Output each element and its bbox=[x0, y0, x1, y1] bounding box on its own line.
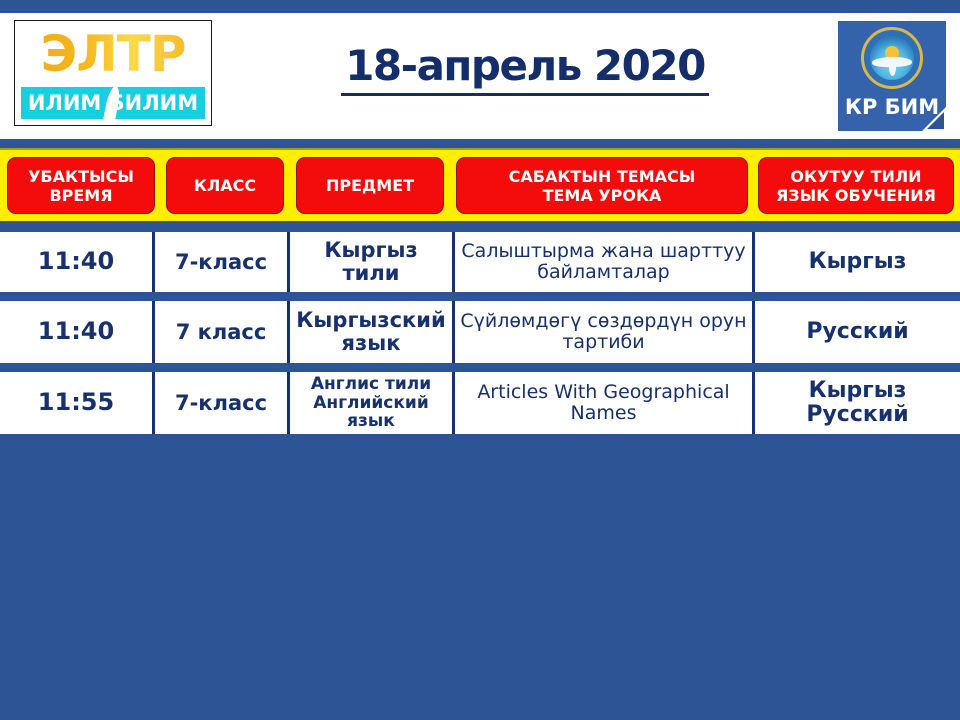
table-row: 11:55 7-класс Англис тили Английский язы… bbox=[0, 372, 960, 434]
column-header-theme: САБАКТЫН ТЕМАСЫ ТЕМА УРОКА bbox=[456, 157, 748, 214]
cell-subject: Англис тили Английский язык bbox=[290, 372, 455, 434]
cell-subject: Кыргыз тили bbox=[290, 232, 455, 292]
table-header-bar: УБАКТЫСЫ ВРЕМЯ КЛАСС ПРЕДМЕТ САБАКТЫН ТЕ… bbox=[0, 148, 960, 221]
cell-class: 7-класс bbox=[155, 232, 290, 292]
column-header-subject-label: ПРЕДМЕТ bbox=[326, 176, 414, 195]
column-header-time: УБАКТЫСЫ ВРЕМЯ bbox=[7, 157, 155, 214]
eltr-logo-wordmark: ЭЛТР bbox=[15, 25, 211, 83]
table-row: 11:40 7 класс Кыргызский язык Сүйлөмдөгү… bbox=[0, 301, 960, 363]
column-header-time-ru: ВРЕМЯ bbox=[28, 186, 134, 205]
cell-time: 11:40 bbox=[0, 232, 155, 292]
cell-language-line1: Кыргыз bbox=[809, 378, 907, 403]
table-row: 11:40 7-класс Кыргыз тили Салыштырма жан… bbox=[0, 232, 960, 292]
schedule-table: 11:40 7-класс Кыргыз тили Салыштырма жан… bbox=[0, 232, 960, 443]
cell-subject-line2: язык bbox=[342, 331, 401, 355]
kr-bim-logo: КР БИМ bbox=[838, 21, 946, 131]
cell-language: Кыргыз Русский bbox=[755, 372, 960, 434]
cell-theme: Салыштырма жана шарттуу байламталар bbox=[455, 232, 755, 292]
cell-class: 7-класс bbox=[155, 372, 290, 434]
cell-theme: Articles With Geographical Names bbox=[455, 372, 755, 434]
cell-language-line2: Русский bbox=[806, 402, 908, 427]
column-header-theme-ru: ТЕМА УРОКА bbox=[509, 186, 696, 205]
cell-subject-line2: Английский язык bbox=[313, 393, 429, 431]
cell-language: Русский bbox=[755, 301, 960, 363]
cell-time: 11:40 bbox=[0, 301, 155, 363]
column-header-class-label: КЛАСС bbox=[194, 176, 256, 195]
column-header-class: КЛАСС bbox=[166, 157, 284, 214]
cell-language-line1: Русский bbox=[806, 319, 908, 344]
page-header: ЭЛТР ИЛИМ БИЛИМ 18-апрель 2020 КР БИМ bbox=[0, 13, 960, 139]
cell-subject: Кыргызский язык bbox=[290, 301, 455, 363]
cell-language-line1: Кыргыз bbox=[809, 249, 907, 274]
column-header-theme-kg: САБАКТЫН ТЕМАСЫ bbox=[509, 167, 696, 186]
cell-theme: Сүйлөмдөгү сөздөрдүн орун тартиби bbox=[455, 301, 755, 363]
cell-language: Кыргыз bbox=[755, 232, 960, 292]
column-header-subject: ПРЕДМЕТ bbox=[296, 157, 444, 214]
cell-subject-line1: Кыргыз тили bbox=[324, 238, 417, 285]
page-title-text: 18-апрель 2020 bbox=[341, 41, 709, 96]
column-header-language-ru: ЯЗЫК ОБУЧЕНИЯ bbox=[776, 186, 936, 205]
cell-time: 11:55 bbox=[0, 372, 155, 434]
column-header-time-kg: УБАКТЫСЫ bbox=[28, 167, 134, 186]
column-header-language-kg: ОКУТУУ ТИЛИ bbox=[776, 167, 936, 186]
coat-of-arms-icon bbox=[861, 27, 923, 89]
corner-fold-inner bbox=[927, 112, 944, 129]
coat-of-arms-inner bbox=[870, 36, 914, 80]
cell-subject-line1: Кыргызский bbox=[296, 308, 445, 332]
eltr-logo: ЭЛТР ИЛИМ БИЛИМ bbox=[14, 20, 212, 126]
cell-class: 7 класс bbox=[155, 301, 290, 363]
column-header-language: ОКУТУУ ТИЛИ ЯЗЫК ОБУЧЕНИЯ bbox=[758, 157, 954, 214]
falcon-body-icon bbox=[889, 60, 896, 76]
page-title: 18-апрель 2020 bbox=[230, 41, 820, 96]
cell-subject-line1: Англис тили bbox=[311, 374, 431, 394]
